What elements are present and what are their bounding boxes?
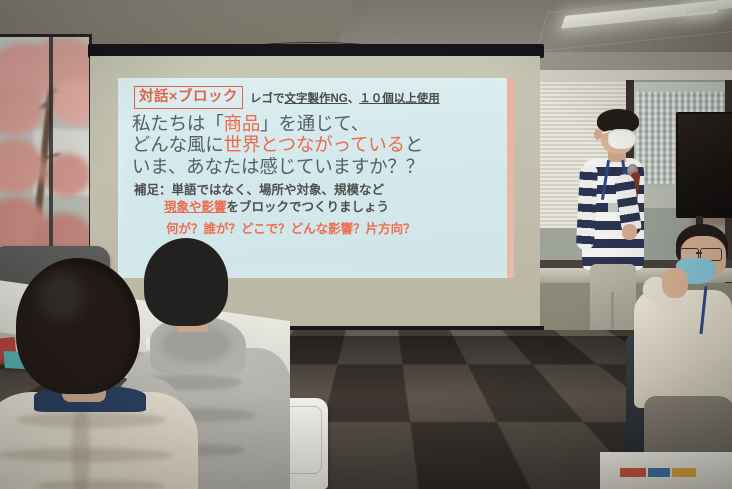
attendee-a-hair xyxy=(16,258,140,394)
foreground-right-table xyxy=(600,452,732,489)
slide-question-line: 何が？誰が？どこで？どんな影響？片方向？ xyxy=(166,218,506,237)
header-note-part1: レゴで xyxy=(250,93,285,105)
table-strip-yellow xyxy=(672,468,696,477)
header-note-separator: 、 xyxy=(348,93,360,105)
slide-supplement: 補足：単語ではなく、場所や対象、規模など 現象や影響をブロックでつくりましょう xyxy=(134,182,506,215)
attendee-c-sweater xyxy=(634,290,732,408)
slide-main-line-2: どんな風に世界とつながっていると xyxy=(132,134,506,155)
line1-post: 」を通じて、 xyxy=(260,113,369,134)
table-strip-red xyxy=(620,468,646,477)
slide-tag-label: 対話×ブロック xyxy=(139,89,238,105)
line2-pre: どんな風に xyxy=(132,134,224,155)
line2-post: と xyxy=(405,134,423,155)
attendee-c-hand xyxy=(662,268,688,298)
slide-main-text: 私たちは「商品」を通じて、 どんな風に世界とつながっていると いま、あなたは感じ… xyxy=(132,113,506,177)
slide-main-line-3: いま、あなたは感じていますか？？ xyxy=(132,156,506,177)
slide-header-note: レゴで文字製作NG、１０個以上使用 xyxy=(250,90,440,106)
hair-highlight xyxy=(38,272,84,322)
supplement-rest: をブロックでつくりましょう xyxy=(227,200,390,214)
presenter-leg-seam xyxy=(611,292,614,336)
line1-highlight: 商品 xyxy=(224,113,261,134)
slide-supplement-line-1: 補足：単語ではなく、場所や対象、規模など xyxy=(134,182,506,198)
line1-pre: 私たちは「 xyxy=(132,113,224,134)
slide-side-accent-bar xyxy=(507,78,514,278)
line3-pre: いま、あなたは感じていますか？？ xyxy=(132,156,424,177)
eyeglasses-bridge xyxy=(696,252,702,254)
monitor-screen xyxy=(676,112,732,218)
line2-highlight: 世界とつながっている xyxy=(224,134,405,155)
attendee-c-lap xyxy=(644,396,732,456)
photo-scene: 対話×ブロック レゴで文字製作NG、１０個以上使用 私たちは「商品」を通じて、 … xyxy=(0,0,732,489)
slide-supplement-line-2: 現象や影響をブロックでつくりましょう xyxy=(164,199,506,215)
header-note-underlined-2: １０個以上使用 xyxy=(359,93,440,105)
slide-main-line-1: 私たちは「商品」を通じて、 xyxy=(132,113,506,134)
slide-header: 対話×ブロック レゴで文字製作NG、１０個以上使用 xyxy=(134,86,506,109)
presenter-ear xyxy=(594,129,601,140)
wall-monitor[interactable] xyxy=(676,112,732,238)
attendee-front-left xyxy=(4,258,194,489)
supplement-highlight: 現象や影響 xyxy=(164,200,227,214)
attendee-right xyxy=(636,224,732,489)
fabric-fold xyxy=(36,480,166,489)
curtain-rail xyxy=(520,70,732,80)
header-note-underlined-1: 文字製作NG xyxy=(284,93,347,105)
presenter-hand xyxy=(622,224,637,240)
presenter-face-mask xyxy=(608,129,636,149)
table-strip-blue xyxy=(648,468,670,477)
fabric-fold xyxy=(16,412,166,428)
slide-tag-box: 対話×ブロック xyxy=(134,86,243,109)
